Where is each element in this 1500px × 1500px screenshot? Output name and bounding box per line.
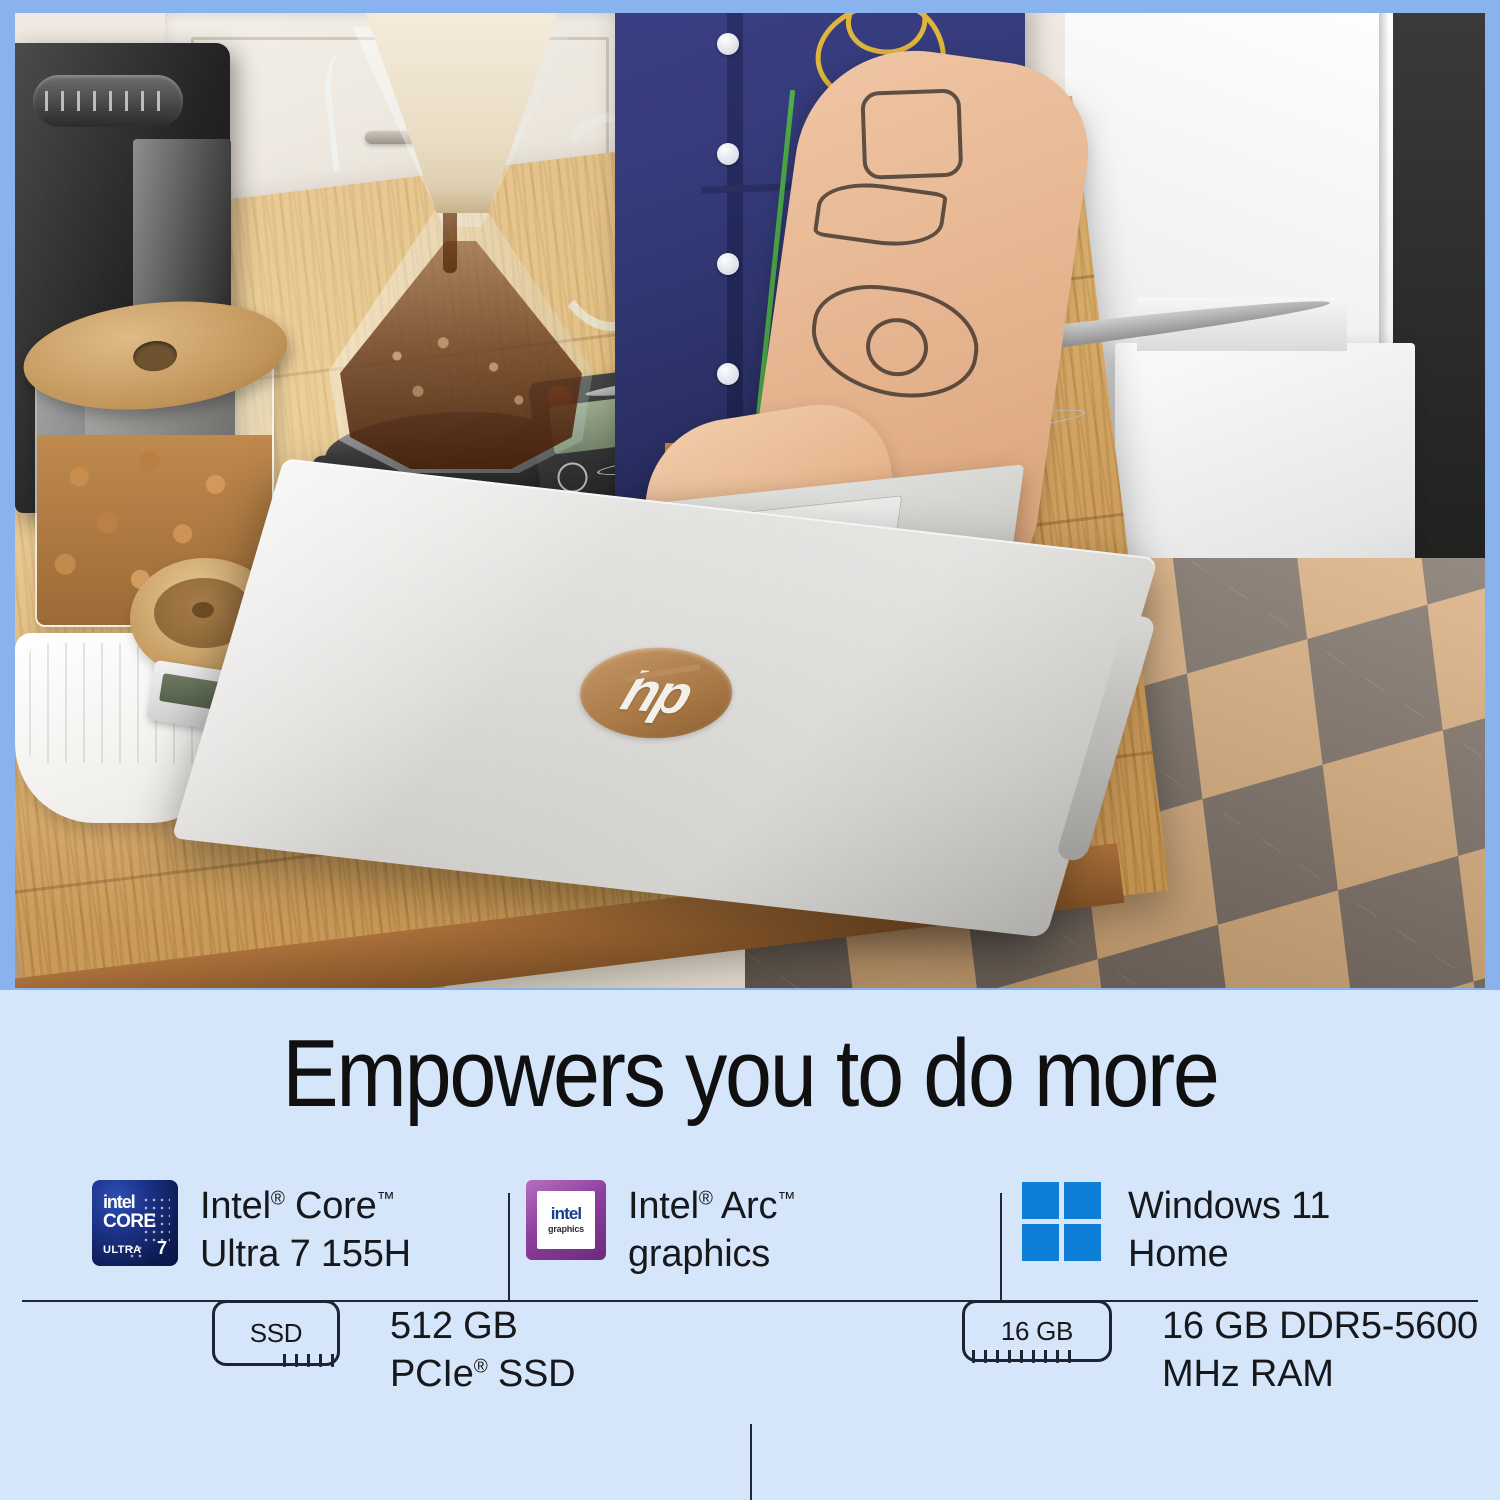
chip-pin <box>1068 1350 1071 1363</box>
spec-label-storage: 512 GB PCIe® SSD <box>362 1300 575 1398</box>
shirt-button <box>717 253 739 275</box>
coffee-bubbles <box>355 323 565 433</box>
badge-level-label: 7 <box>157 1238 167 1259</box>
spec-label-memory: 16 GB DDR5-5600 MHz RAM <box>1134 1300 1478 1398</box>
spec-grid: intel CORE ULTRA 7 Intel® Core™ Ultra 7 … <box>0 1180 1500 1450</box>
chip-pin <box>1044 1350 1047 1363</box>
column-divider <box>1000 1193 1002 1301</box>
spec-row-secondary: SSD 512 GB PCIe® SSD <box>0 1300 1500 1450</box>
chip-pin <box>1020 1350 1023 1363</box>
chip-pin <box>1056 1350 1059 1363</box>
shirt-button <box>717 143 739 165</box>
chip-pin <box>307 1354 310 1367</box>
windows-pane <box>1022 1224 1059 1261</box>
chip-pin <box>283 1354 286 1367</box>
chip-pin <box>972 1350 975 1363</box>
chip-pin <box>1032 1350 1035 1363</box>
chemex-carafe <box>315 13 605 493</box>
windows-pane <box>1022 1182 1059 1219</box>
chip-pin <box>984 1350 987 1363</box>
windows-logo-icon <box>1022 1180 1106 1264</box>
ssd-chip-icon: SSD <box>212 1300 340 1366</box>
spec-line-1: Intel® Arc™ <box>628 1185 795 1227</box>
shirt-button <box>717 363 739 385</box>
page-title: Empowers you to do more <box>90 1026 1410 1122</box>
chip-pin <box>1008 1350 1011 1363</box>
spec-item-processor: intel CORE ULTRA 7 Intel® Core™ Ultra 7 … <box>0 1180 508 1300</box>
badge-tier-label: ULTRA <box>103 1244 141 1256</box>
spec-item-graphics: intel graphics Intel® Arc™ graphics <box>508 1180 1000 1300</box>
spec-item-os: Windows 11 Home <box>1000 1180 1500 1300</box>
ssd-chip-label: SSD <box>250 1318 303 1349</box>
spec-line-1: 16 GB DDR5-5600 <box>1162 1305 1478 1347</box>
chip-pin <box>295 1354 298 1367</box>
tattoo <box>860 88 963 179</box>
badge-inner: intel graphics <box>537 1191 595 1249</box>
spec-line-1: Intel® Core™ <box>200 1185 395 1227</box>
grinder-dial <box>33 75 183 127</box>
intel-arc-graphics-badge-icon: intel graphics <box>526 1180 606 1260</box>
badge-brand-label: intel <box>103 1192 135 1213</box>
ram-chip-label: 16 GB <box>1001 1316 1073 1347</box>
column-divider <box>750 1424 752 1500</box>
paper-filter <box>355 13 570 213</box>
windows-pane <box>1064 1182 1101 1219</box>
spec-item-memory: 16 GB 16 GB DDR5-5600 <box>750 1300 1500 1450</box>
spec-label-os: Windows 11 Home <box>1128 1180 1330 1278</box>
spec-label-processor: Intel® Core™ Ultra 7 155H <box>200 1180 411 1278</box>
windows-pane <box>1064 1224 1101 1261</box>
spec-line-2: Home <box>1128 1233 1229 1275</box>
hero-photo: hp <box>15 13 1485 988</box>
badge-sub-label: graphics <box>548 1224 584 1234</box>
spec-line-2: PCIe® SSD <box>390 1353 575 1395</box>
ram-chip-pins <box>972 1350 1071 1363</box>
lid-hole <box>132 339 179 373</box>
spec-line-2: graphics <box>628 1233 770 1275</box>
ram-chip-icon: 16 GB <box>962 1300 1112 1362</box>
intel-core-ultra-badge-icon: intel CORE ULTRA 7 <box>92 1180 178 1266</box>
badge-brand-label: intel <box>551 1204 581 1224</box>
spec-item-storage: SSD 512 GB PCIe® SSD <box>0 1300 750 1450</box>
spec-row-primary: intel CORE ULTRA 7 Intel® Core™ Ultra 7 … <box>0 1180 1500 1300</box>
bean-in-bowl <box>192 602 214 618</box>
product-feature-panel: hp Empowers you to do more intel CORE UL… <box>0 0 1500 1500</box>
tattoo <box>813 176 948 253</box>
spec-line-1: Windows 11 <box>1128 1185 1330 1227</box>
column-divider <box>508 1193 510 1301</box>
shirt-button <box>717 33 739 55</box>
ssd-chip-pins <box>283 1354 334 1367</box>
chip-pin <box>319 1354 322 1367</box>
chip-pin <box>331 1354 334 1367</box>
chip-pin <box>996 1350 999 1363</box>
spec-line-2: Ultra 7 155H <box>200 1233 411 1275</box>
badge-dot-matrix <box>142 1196 170 1242</box>
spec-line-1: 512 GB <box>390 1305 518 1347</box>
spec-line-2: MHz RAM <box>1162 1353 1334 1395</box>
hero-photo-frame: hp <box>0 0 1500 990</box>
spec-label-graphics: Intel® Arc™ graphics <box>628 1180 795 1278</box>
